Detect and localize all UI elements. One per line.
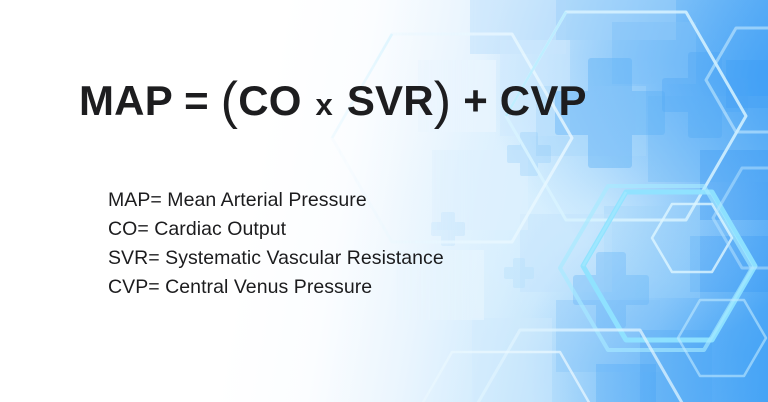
legend-item-svr: SVR= Systematic Vascular Resistance [108, 244, 444, 273]
formula-close-paren: ) [434, 72, 452, 130]
map-formula: MAP = (CO x SVR) + CVP [79, 77, 587, 129]
infographic-canvas: MAP = (CO x SVR) + CVP MAP= Mean Arteria… [0, 0, 768, 402]
formula-factor-1: CO [238, 77, 301, 124]
legend-item-co: CO= Cardiac Output [108, 215, 444, 244]
content-layer: MAP = (CO x SVR) + CVP MAP= Mean Arteria… [0, 0, 768, 402]
abbreviation-legend: MAP= Mean Arterial Pressure CO= Cardiac … [108, 186, 444, 302]
formula-multiply-operator: x [313, 87, 334, 122]
formula-factor-2: SVR [347, 77, 434, 124]
legend-item-map: MAP= Mean Arterial Pressure [108, 186, 444, 215]
formula-open-paren: ( [221, 72, 239, 130]
legend-item-cvp: CVP= Central Venus Pressure [108, 273, 444, 302]
formula-plus-operator: + [463, 77, 488, 124]
formula-lhs: MAP [79, 77, 172, 124]
formula-addend: CVP [500, 77, 587, 124]
formula-equals: = [184, 77, 209, 124]
